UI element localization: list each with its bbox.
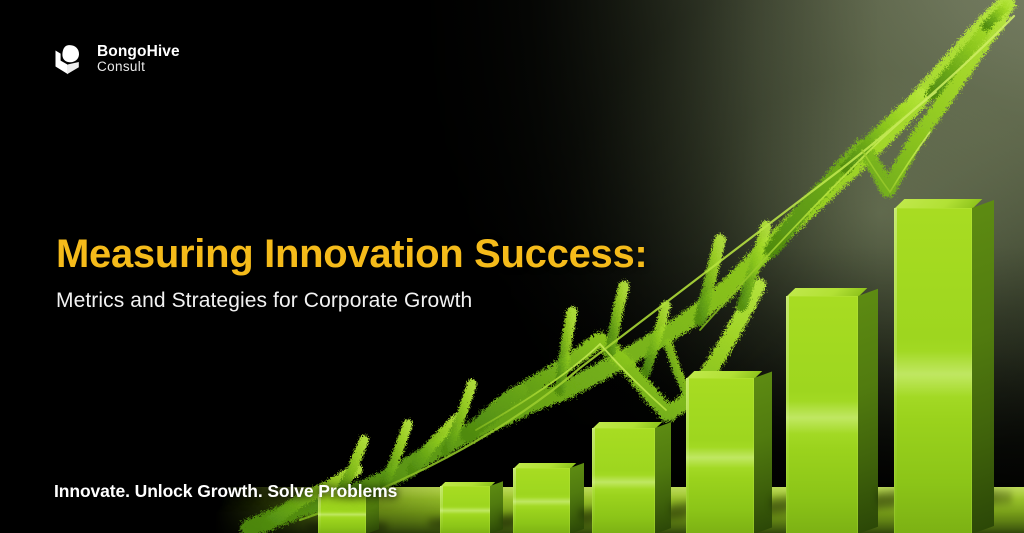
brand-logo[interactable]: BongoHive Consult [48,38,180,80]
bar-glint [786,296,789,533]
logo-name: BongoHive [97,44,180,60]
bar-face [786,296,858,533]
bar-glint [894,208,897,533]
logo-subtitle: Consult [97,60,180,74]
bar-glint [592,428,595,533]
bar-7 [894,208,972,533]
bar-glint [686,378,689,533]
bar-glint [440,486,443,533]
banner-image: BongoHive Consult Measuring Innovation S… [0,0,1024,533]
bar-face [513,468,570,533]
bar-6 [786,296,858,533]
bar-face [592,428,655,533]
bongohive-hexagon-leaf-icon [48,38,86,80]
bar-side [570,463,584,533]
brand-tagline: Innovate. Unlock Growth. Solve Problems [54,481,397,502]
page-title: Measuring Innovation Success: [56,232,647,277]
bar-face [440,486,490,533]
bar-side [858,289,878,533]
bar-glint [513,468,516,533]
bar-5 [686,378,754,533]
bar-side [972,200,994,533]
bar-2 [440,486,490,533]
bar-3 [513,468,570,533]
page-subtitle: Metrics and Strategies for Corporate Gro… [56,289,472,313]
bar-face [686,378,754,533]
bar-4 [592,428,655,533]
logo-wordmark: BongoHive Consult [97,44,180,75]
bar-face [894,208,972,533]
bar-side [655,422,671,533]
